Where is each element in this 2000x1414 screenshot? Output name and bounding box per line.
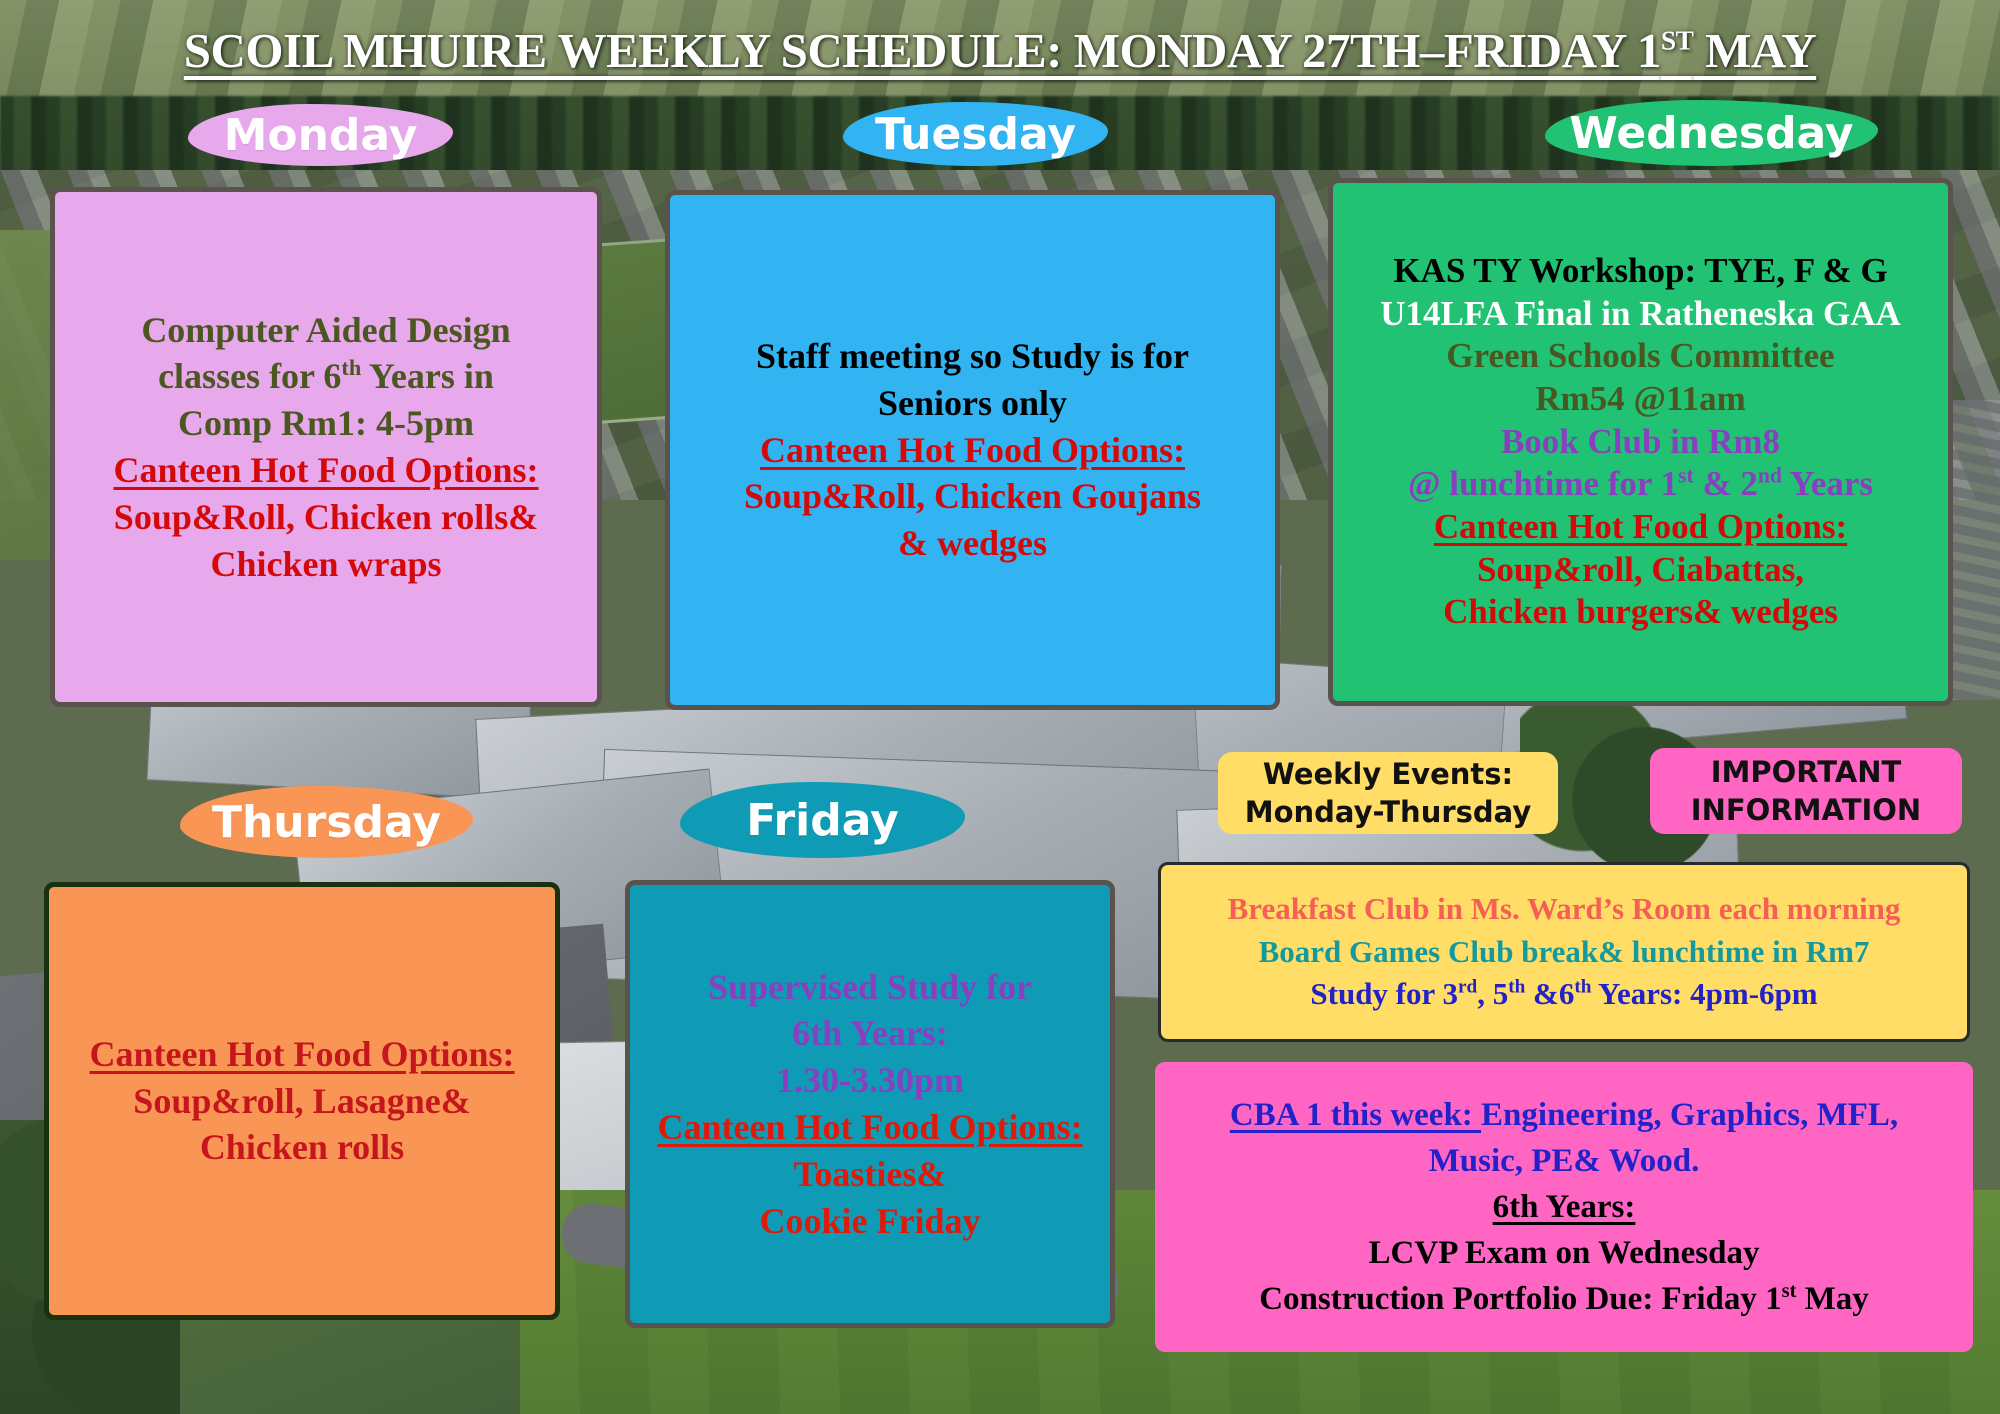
weekly-events-line-1: Breakfast Club in Ms. Ward’s Room each m… xyxy=(1175,888,1953,931)
friday-line-2: 6th Years: xyxy=(644,1010,1096,1057)
weekly-events-heading-line2: Monday-Thursday xyxy=(1245,793,1532,831)
thursday-line-3: Chicken rolls xyxy=(63,1124,541,1171)
day-label-wednesday-text: Wednesday xyxy=(1569,108,1853,159)
important-line-4: LCVP Exam on Wednesday xyxy=(1169,1230,1959,1276)
monday-line-3: Comp Rm1: 4-5pm xyxy=(69,400,583,447)
day-label-monday: Monday xyxy=(188,104,453,166)
weekly-events-heading: Weekly Events: Monday-Thursday xyxy=(1218,752,1558,834)
page-title-sup: ST xyxy=(1661,26,1694,56)
wednesday-line-3: Green Schools Committee xyxy=(1347,335,1934,378)
day-label-thursday-text: Thursday xyxy=(212,797,441,848)
wednesday-line-7: Canteen Hot Food Options: xyxy=(1347,506,1934,549)
friday-line-4: Canteen Hot Food Options: xyxy=(644,1104,1096,1151)
important-information-heading: IMPORTANT INFORMATION xyxy=(1650,748,1962,834)
page-title: SCOIL MHUIRE WEEKLY SCHEDULE: MONDAY 27T… xyxy=(0,22,2000,79)
weekly-schedule-poster: SCOIL MHUIRE WEEKLY SCHEDULE: MONDAY 27T… xyxy=(0,0,2000,1414)
weekly-events-heading-line1: Weekly Events: xyxy=(1263,755,1513,793)
tuesday-line-5: & wedges xyxy=(684,520,1261,567)
monday-line-6: Chicken wraps xyxy=(69,541,583,588)
monday-line-1: Computer Aided Design xyxy=(69,307,583,354)
day-label-thursday: Thursday xyxy=(180,786,473,858)
day-label-tuesday-text: Tuesday xyxy=(875,109,1076,160)
page-title-tail: MAY xyxy=(1693,23,1816,78)
important-information-card: CBA 1 this week: Engineering, Graphics, … xyxy=(1155,1062,1973,1352)
day-label-monday-text: Monday xyxy=(224,110,418,161)
tuesday-line-4: Soup&Roll, Chicken Goujans xyxy=(684,473,1261,520)
monday-line-2: classes for 6th Years in xyxy=(69,353,583,400)
wednesday-line-4: Rm54 @11am xyxy=(1347,378,1934,421)
important-line-1: CBA 1 this week: Engineering, Graphics, … xyxy=(1169,1092,1959,1138)
wednesday-line-5: Book Club in Rm8 xyxy=(1347,421,1934,464)
important-line-2: Music, PE& Wood. xyxy=(1169,1138,1959,1184)
wednesday-line-6: @ lunchtime for 1st & 2nd Years xyxy=(1347,463,1934,506)
wednesday-line-1: KAS TY Workshop: TYE, F & G xyxy=(1347,250,1934,293)
day-card-friday: Supervised Study for 6th Years: 1.30-3.3… xyxy=(625,880,1115,1328)
friday-line-1: Supervised Study for xyxy=(644,964,1096,1011)
tuesday-line-1: Staff meeting so Study is for xyxy=(684,333,1261,380)
weekly-events-card: Breakfast Club in Ms. Ward’s Room each m… xyxy=(1158,862,1970,1042)
thursday-line-1: Canteen Hot Food Options: xyxy=(63,1031,541,1078)
monday-line-5: Soup&Roll, Chicken rolls& xyxy=(69,494,583,541)
wednesday-line-8: Soup&roll, Ciabattas, xyxy=(1347,549,1934,592)
wednesday-line-2: U14LFA Final in Ratheneska GAA xyxy=(1347,293,1934,336)
day-card-monday: Computer Aided Design classes for 6th Ye… xyxy=(50,187,602,707)
friday-line-5: Toasties& xyxy=(644,1151,1096,1198)
day-label-tuesday: Tuesday xyxy=(843,102,1108,166)
day-card-tuesday: Staff meeting so Study is for Seniors on… xyxy=(665,190,1280,710)
important-line-3: 6th Years: xyxy=(1169,1184,1959,1230)
wednesday-line-9: Chicken burgers& wedges xyxy=(1347,591,1934,634)
important-heading-line2: INFORMATION xyxy=(1691,791,1921,829)
monday-line-4: Canteen Hot Food Options: xyxy=(69,447,583,494)
page-title-text: SCOIL MHUIRE WEEKLY SCHEDULE: MONDAY 27T… xyxy=(184,23,1661,78)
tuesday-line-3: Canteen Hot Food Options: xyxy=(684,427,1261,474)
tuesday-line-2: Seniors only xyxy=(684,380,1261,427)
day-label-wednesday: Wednesday xyxy=(1545,100,1878,166)
important-heading-line1: IMPORTANT xyxy=(1711,753,1902,791)
friday-line-6: Cookie Friday xyxy=(644,1198,1096,1245)
friday-line-3: 1.30-3.30pm xyxy=(644,1057,1096,1104)
weekly-events-line-3: Study for 3rd, 5th &6th Years: 4pm-6pm xyxy=(1175,973,1953,1016)
important-line-5: Construction Portfolio Due: Friday 1st M… xyxy=(1169,1276,1959,1322)
day-card-wednesday: KAS TY Workshop: TYE, F & G U14LFA Final… xyxy=(1328,178,1953,706)
weekly-events-line-2: Board Games Club break& lunchtime in Rm7 xyxy=(1175,931,1953,974)
thursday-line-2: Soup&roll, Lasagne& xyxy=(63,1078,541,1125)
day-label-friday-text: Friday xyxy=(746,795,899,846)
day-card-thursday: Canteen Hot Food Options: Soup&roll, Las… xyxy=(44,882,560,1320)
